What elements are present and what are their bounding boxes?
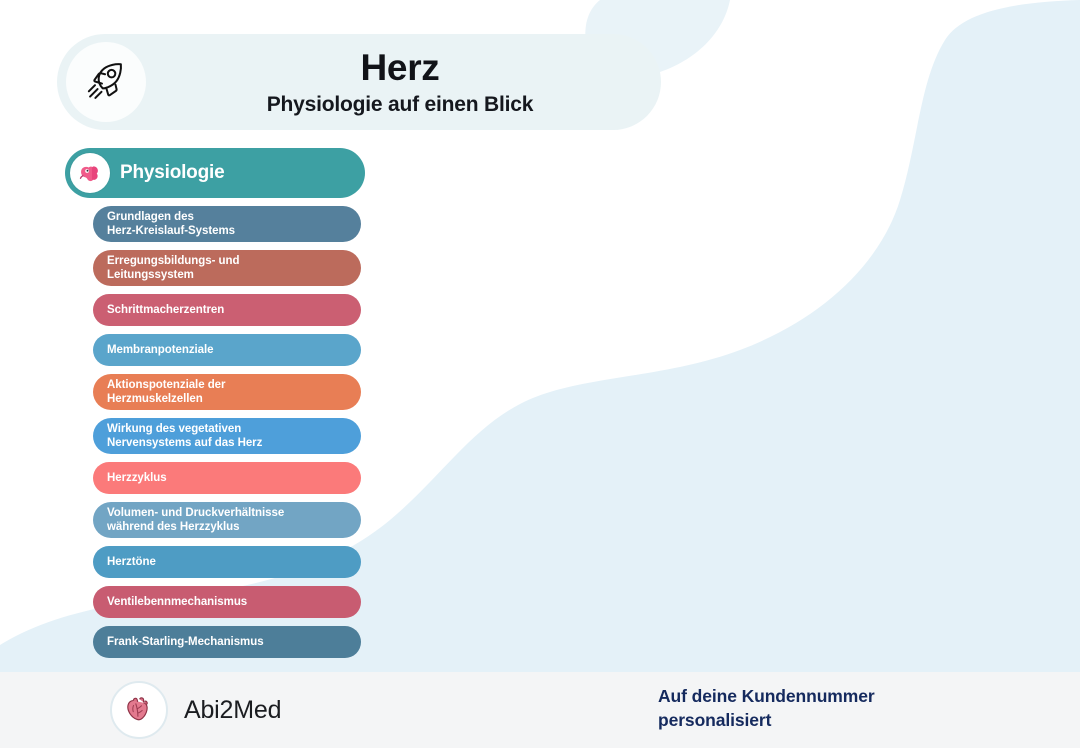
personalization-note-line-1: Auf deine Kundennummer	[658, 684, 875, 708]
anatomical-heart-icon	[121, 692, 157, 728]
topic-pill-label: Herztöne	[107, 555, 156, 569]
topic-pill-label: Wirkung des vegetativenNervensystems auf…	[107, 422, 262, 450]
topic-pill-label-line: Herzmuskelzellen	[107, 392, 225, 406]
page-subtitle: Physiologie auf einen Blick	[157, 91, 643, 119]
topic-pill-label: Volumen- und Druckverhältnissewährend de…	[107, 506, 284, 534]
topic-pill[interactable]: Frank-Starling-Mechanismus	[93, 626, 361, 658]
header-text-block: Herz Physiologie auf einen Blick	[157, 45, 643, 119]
topic-pill-label: Aktionspotenziale derHerzmuskelzellen	[107, 378, 225, 406]
topic-pill-label: Schrittmacherzentren	[107, 303, 224, 317]
topic-pill-label-line: Herz-Kreislauf-Systems	[107, 224, 235, 238]
topic-pill-label-line: Leitungssystem	[107, 268, 239, 282]
topic-pill-label: Herzzyklus	[107, 471, 167, 485]
brand-logo-badge	[110, 681, 168, 739]
topic-sidebar: Physiologie Grundlagen desHerz-Kreislauf…	[65, 148, 365, 666]
topic-pill[interactable]: Herzzyklus	[93, 462, 361, 494]
rocket-icon-badge	[66, 42, 146, 122]
topic-pill-label-line: Grundlagen des	[107, 210, 235, 224]
topic-pill-label-line: Ventilebennmechanismus	[107, 595, 247, 609]
sidebar-section-physiologie[interactable]: Physiologie	[65, 148, 365, 198]
topic-pill-label-line: während des Herzzyklus	[107, 520, 284, 534]
topic-pill-label: Frank-Starling-Mechanismus	[107, 635, 264, 649]
topic-pill-label-line: Membranpotenziale	[107, 343, 214, 357]
topic-pill[interactable]: Schrittmacherzentren	[93, 294, 361, 326]
topic-pill[interactable]: Herztöne	[93, 546, 361, 578]
personalization-note-line-2: personalisiert	[658, 708, 875, 732]
topic-pill-label-line: Aktionspotenziale der	[107, 378, 225, 392]
page-title: Herz	[157, 45, 643, 91]
topic-pill-label: Ventilebennmechanismus	[107, 595, 247, 609]
footer-brand: Abi2Med	[110, 681, 281, 739]
sidebar-section-label: Physiologie	[120, 162, 224, 184]
topic-pill-label: Grundlagen desHerz-Kreislauf-Systems	[107, 210, 235, 238]
header-banner: Herz Physiologie auf einen Blick	[57, 34, 661, 130]
topic-pill-label: Erregungsbildungs- undLeitungssystem	[107, 254, 239, 282]
topic-pill-label-line: Nervensystems auf das Herz	[107, 436, 262, 450]
rocket-icon	[83, 59, 129, 105]
topic-pill-label-line: Schrittmacherzentren	[107, 303, 224, 317]
brain-icon	[77, 160, 103, 186]
topic-pill-list: Grundlagen desHerz-Kreislauf-SystemsErre…	[65, 206, 365, 658]
topic-pill-label-line: Herzzyklus	[107, 471, 167, 485]
topic-pill[interactable]: Aktionspotenziale derHerzmuskelzellen	[93, 374, 361, 410]
topic-pill-label-line: Herztöne	[107, 555, 156, 569]
topic-pill[interactable]: Wirkung des vegetativenNervensystems auf…	[93, 418, 361, 454]
topic-pill[interactable]: Volumen- und Druckverhältnissewährend de…	[93, 502, 361, 538]
topic-pill[interactable]: Membranpotenziale	[93, 334, 361, 366]
topic-pill-label-line: Volumen- und Druckverhältnisse	[107, 506, 284, 520]
topic-pill[interactable]: Ventilebennmechanismus	[93, 586, 361, 618]
brand-name: Abi2Med	[184, 696, 281, 725]
topic-pill-label-line: Erregungsbildungs- und	[107, 254, 239, 268]
topic-pill-label: Membranpotenziale	[107, 343, 214, 357]
poster-page: Herz Physiologie auf einen Blick Physiol…	[0, 0, 1080, 748]
topic-pill[interactable]: Grundlagen desHerz-Kreislauf-Systems	[93, 206, 361, 242]
topic-pill[interactable]: Erregungsbildungs- undLeitungssystem	[93, 250, 361, 286]
personalization-note: Auf deine Kundennummer personalisiert	[658, 684, 875, 732]
topic-pill-label-line: Wirkung des vegetativen	[107, 422, 262, 436]
topic-pill-label-line: Frank-Starling-Mechanismus	[107, 635, 264, 649]
section-icon-badge	[70, 153, 110, 193]
